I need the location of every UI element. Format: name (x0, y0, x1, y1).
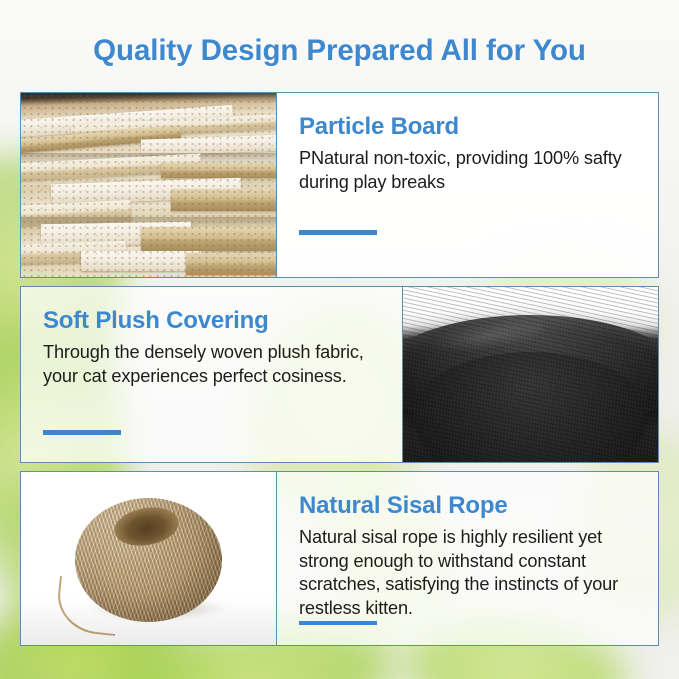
card-image-soft-plush (403, 287, 658, 462)
infographic-page: Quality Design Prepared All for You (0, 0, 679, 679)
accent-bar (299, 621, 377, 626)
card-text-soft-plush: Soft Plush Covering Through the densely … (21, 287, 403, 462)
sisal-rope-photo (21, 472, 276, 645)
card-body: PNatural non-toxic, providing 100% safty… (299, 147, 636, 194)
card-body: Natural sisal rope is highly resilient y… (299, 526, 636, 621)
plush-texture (403, 287, 658, 462)
page-title: Quality Design Prepared All for You (0, 34, 679, 68)
card-text-particle-board: Particle Board PNatural non-toxic, provi… (276, 93, 658, 277)
card-image-sisal-rope (21, 472, 276, 645)
plush-fabric-photo (403, 287, 658, 462)
card-heading: Soft Plush Covering (43, 308, 380, 335)
card-text-sisal-rope: Natural Sisal Rope Natural sisal rope is… (276, 472, 658, 645)
feature-card-particle-board: Particle Board PNatural non-toxic, provi… (20, 92, 659, 278)
feature-card-sisal-rope: Natural Sisal Rope Natural sisal rope is… (20, 471, 659, 646)
card-heading: Particle Board (299, 114, 636, 141)
card-image-particle-board (21, 93, 276, 277)
rope-loose-end (54, 576, 120, 636)
particle-board-photo (21, 93, 276, 277)
card-heading: Natural Sisal Rope (299, 493, 636, 520)
accent-bar (43, 430, 121, 435)
card-body: Through the densely woven plush fabric, … (43, 341, 380, 388)
feature-card-soft-plush: Soft Plush Covering Through the densely … (20, 286, 659, 463)
accent-bar (299, 230, 377, 235)
